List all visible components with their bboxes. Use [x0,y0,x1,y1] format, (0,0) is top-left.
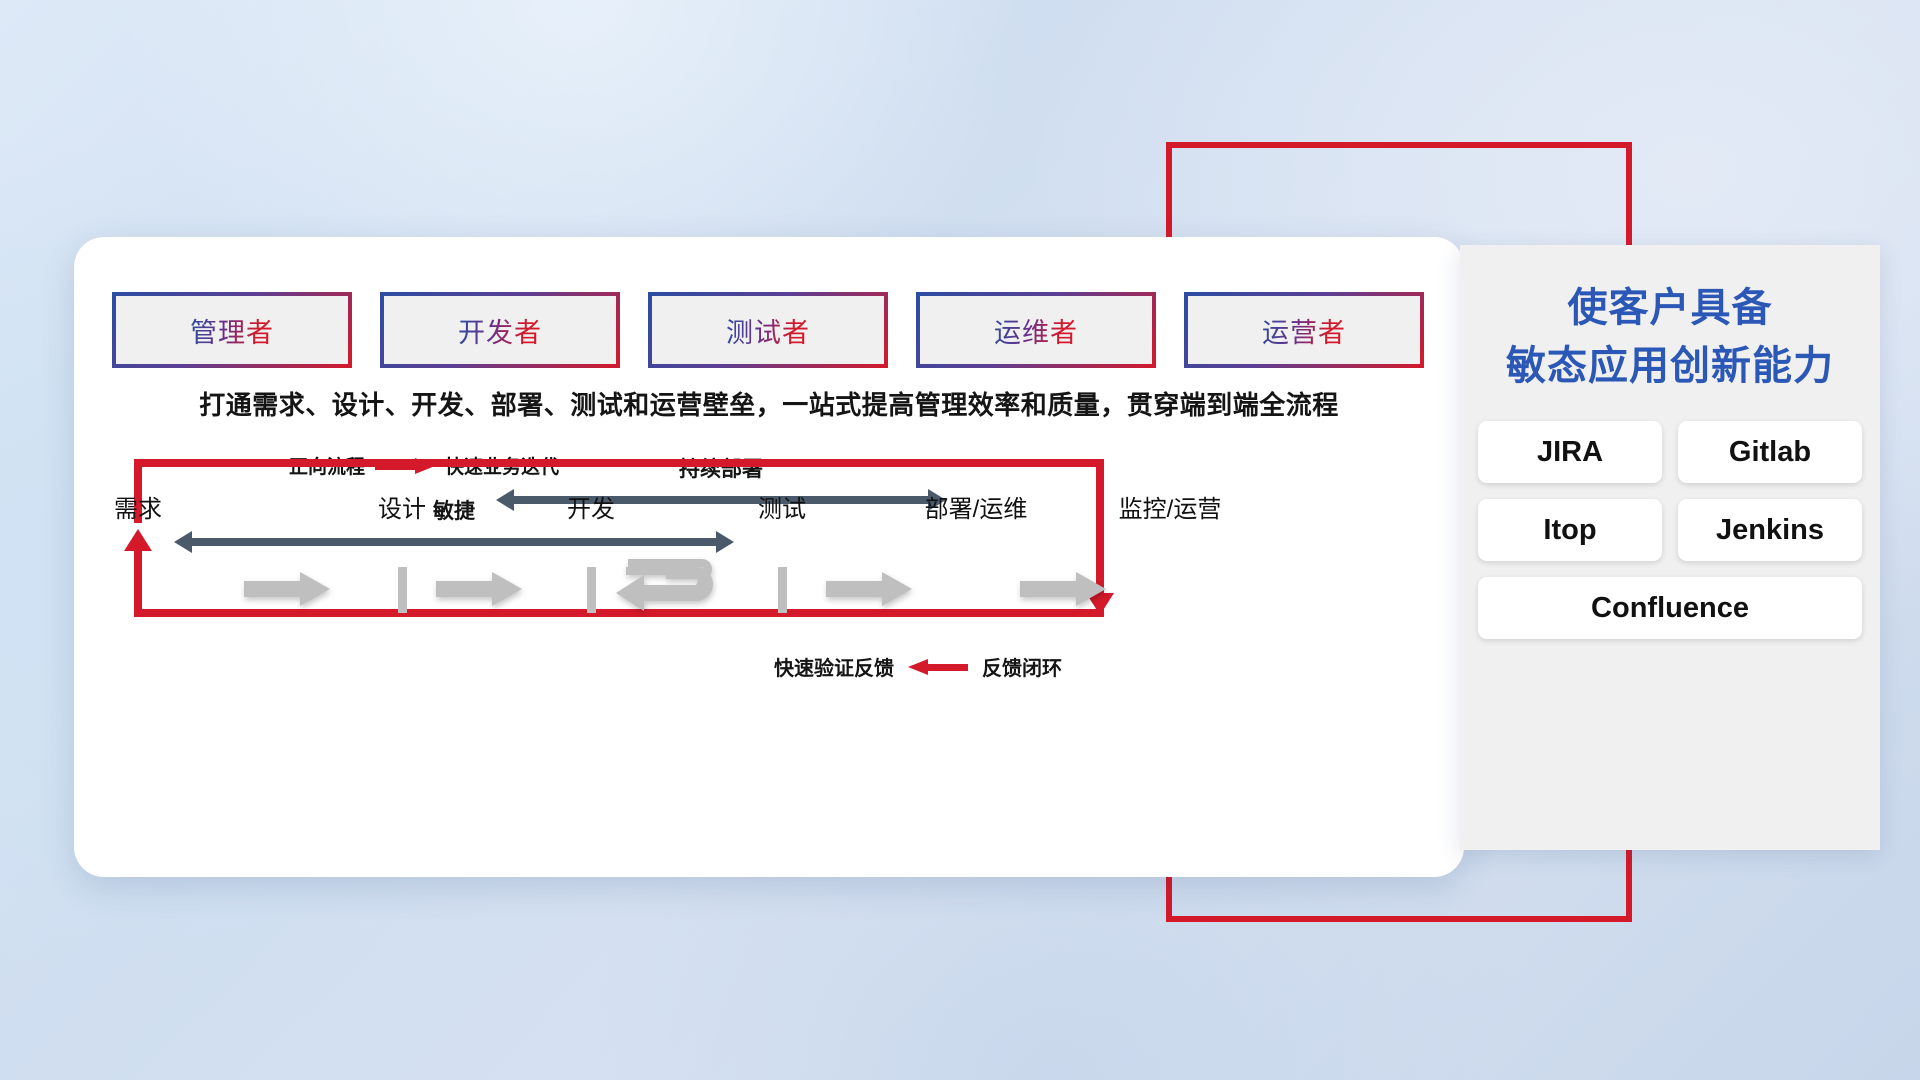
pipeline-node-label: 部署/运维 [925,489,1028,524]
outer-bracket-top [1166,142,1632,148]
loop-top-bar [134,459,1104,467]
connector-arrow-3 [826,572,912,606]
tool-chip-jenkins[interactable]: Jenkins [1678,499,1862,561]
pipeline-node-label: 设计 [378,489,426,524]
legend-feedback-loop: 快速验证反馈 反馈闭环 [774,652,1062,681]
outer-bracket-bottom [1166,916,1632,922]
tool-chip-jira[interactable]: JIRA [1478,421,1662,483]
legend-feedback-left-label: 快速验证反馈 [774,652,894,681]
tool-chip-list: JIRA Gitlab Itop Jenkins Confluence [1478,421,1862,639]
capability-panel: 使客户具备 敏态应用创新能力 JIRA Gitlab Itop Jenkins … [1460,245,1880,850]
arrow-head-left-icon [174,531,192,553]
connector-arrow-4 [1020,572,1106,606]
pipeline-node-deploy-ops[interactable]: 部署/运维 [942,529,1010,597]
connector-arrow-2 [436,572,522,606]
pipeline-node-monitor-operations[interactable]: 监控/运营 [1136,529,1204,597]
pipeline-node-test[interactable]: 测试 [748,529,816,597]
legend-feedback-right-label: 反馈闭环 [982,652,1062,681]
pipeline-node-label: 测试 [758,489,806,524]
span-bar [191,538,717,546]
pipeline-node-label: 需求 [114,489,162,524]
pipeline-node-requirement[interactable]: 需求 [104,529,172,597]
main-card: 管理者 开发者 测试者 运维者 运营者 打通需求、设计、开发、部署、测试和运营壁… [74,237,1464,877]
panel-title-line1: 使客户具备 [1568,286,1773,330]
arrow-left-red-icon [908,659,968,675]
panel-title: 使客户具备 敏态应用创新能力 [1460,279,1880,395]
arrow-head-right-icon [716,531,734,553]
pipeline-node-label: 监控/运营 [1119,489,1222,524]
span-agile: 敏捷 [174,531,734,553]
panel-title-line2: 敏态应用创新能力 [1460,337,1880,395]
pipeline-node-design[interactable]: 设计 [368,529,436,597]
span-agile-label: 敏捷 [174,495,734,525]
connector-arrow-1 [244,572,330,606]
tool-chip-confluence[interactable]: Confluence [1478,577,1862,639]
slide-canvas: 管理者 开发者 测试者 运维者 运营者 打通需求、设计、开发、部署、测试和运营壁… [0,0,1920,1080]
pipeline-node-develop[interactable]: 开发 [557,529,625,597]
tool-chip-gitlab[interactable]: Gitlab [1678,421,1862,483]
tool-chip-itop[interactable]: Itop [1478,499,1662,561]
pipeline-node-label: 开发 [567,489,615,524]
connector-loopback-dev-test [616,559,726,626]
